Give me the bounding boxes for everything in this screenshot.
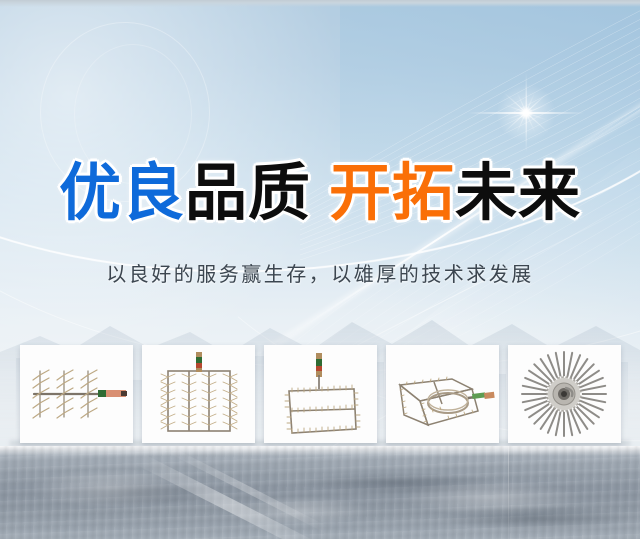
product-card-strip bbox=[0, 345, 640, 445]
concrete-ground bbox=[0, 446, 640, 539]
headline-part-2: 品质 bbox=[185, 160, 311, 225]
headline: 优良品质开拓未来 bbox=[0, 160, 640, 225]
product-rack-radial-sunburst[interactable] bbox=[508, 345, 621, 443]
product-rack-vertical-frame[interactable] bbox=[142, 345, 255, 443]
product-rack-comb-horizontal[interactable] bbox=[20, 345, 133, 443]
ground-seam bbox=[508, 446, 509, 539]
subtitle: 以良好的服务赢生存，以雄厚的技术求发展 bbox=[0, 258, 640, 287]
product-rack-flat-ring[interactable] bbox=[386, 345, 499, 443]
ground-highlight bbox=[400, 480, 580, 516]
product-rack-rectangular-frame[interactable] bbox=[264, 345, 377, 443]
promo-banner: 优良品质开拓未来 以良好的服务赢生存，以雄厚的技术求发展 bbox=[0, 0, 640, 539]
headline-part-4: 未来 bbox=[455, 160, 581, 225]
headline-part-3: 开拓 bbox=[329, 160, 455, 225]
headline-part-1: 优良 bbox=[59, 160, 185, 225]
flare-core bbox=[519, 106, 533, 120]
